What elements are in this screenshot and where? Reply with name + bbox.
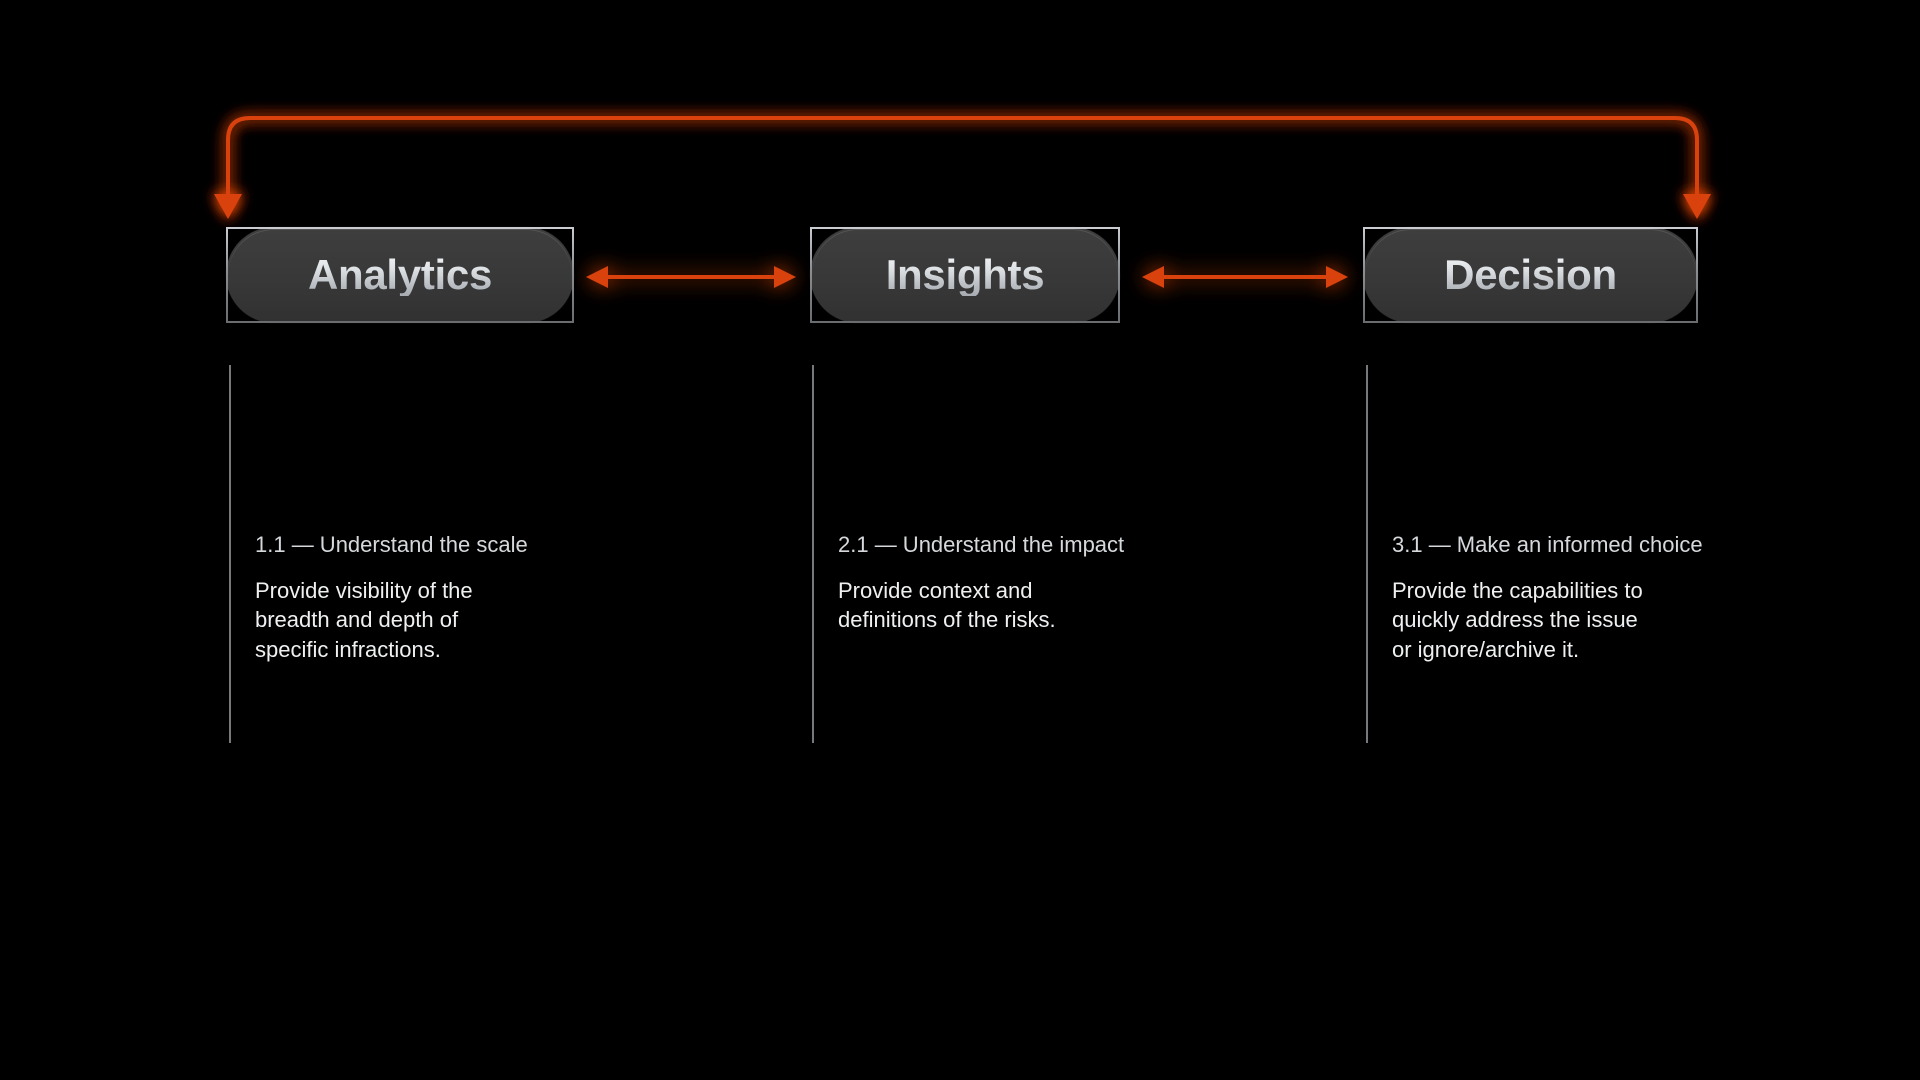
column-body: 2.1 — Understand the impact Provide cont… [838, 531, 1168, 635]
column-description: Provide visibility of the breadth and de… [255, 576, 585, 666]
analytics-insights-arrow [586, 266, 796, 288]
column-description: Provide the capabilities to quickly addr… [1392, 576, 1722, 666]
feedback-loop-arrow [214, 118, 1711, 219]
node-insights-label: Insights [886, 254, 1045, 296]
column-heading: 2.1 — Understand the impact [838, 531, 1168, 559]
column-heading: 3.1 — Make an informed choice [1392, 531, 1722, 559]
column-body: 3.1 — Make an informed choice Provide th… [1392, 531, 1722, 665]
node-analytics[interactable]: Analytics [226, 227, 574, 323]
column-heading: 1.1 — Understand the scale [255, 531, 585, 559]
insights-decision-arrow [1142, 266, 1348, 288]
node-insights[interactable]: Insights [810, 227, 1120, 323]
column-body: 1.1 — Understand the scale Provide visib… [255, 531, 585, 665]
diagram-canvas: Analytics Insights Decision 1.1 — Unders… [0, 0, 1920, 1080]
column-rule [1366, 365, 1368, 743]
column-rule [229, 365, 231, 743]
node-decision[interactable]: Decision [1363, 227, 1698, 323]
column-rule [812, 365, 814, 743]
node-decision-label: Decision [1444, 254, 1617, 296]
node-analytics-label: Analytics [308, 254, 492, 296]
column-description: Provide context and definitions of the r… [838, 576, 1168, 636]
